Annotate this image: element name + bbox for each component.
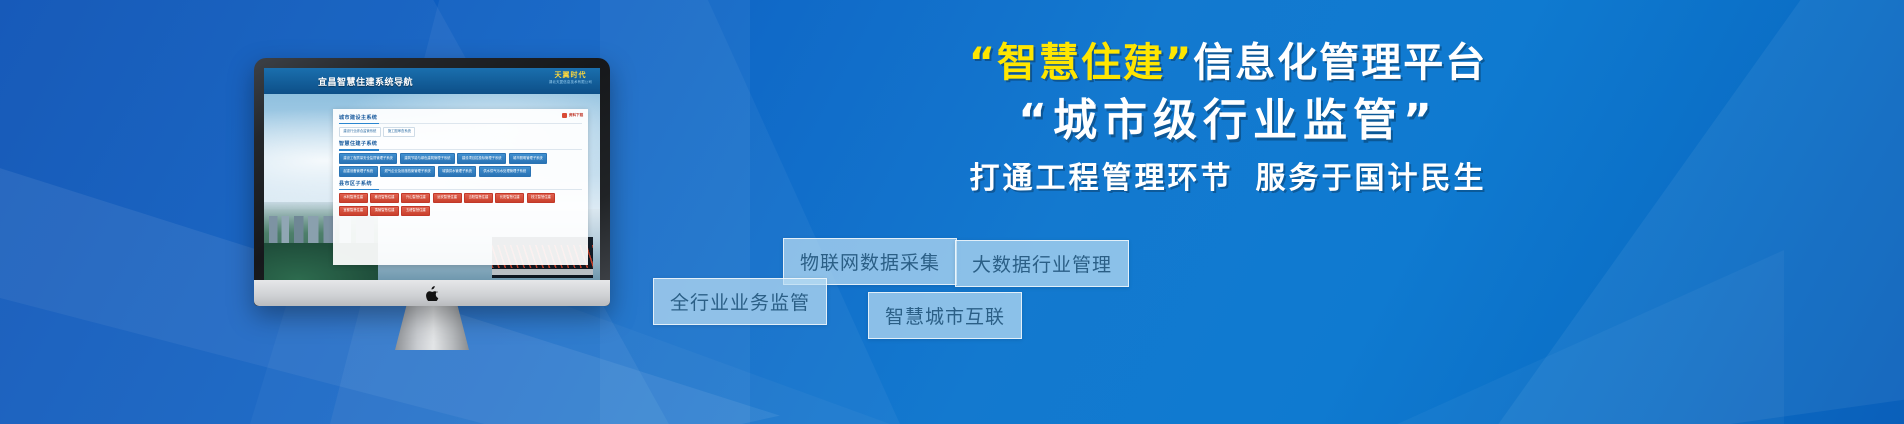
portal-button[interactable]: 水利智慧住建 [339,193,368,203]
portal-section-1-title: 城市建设主系统 [339,114,582,123]
portal-button[interactable]: 燃气企业及设施档案管理子系统 [380,166,435,176]
portal-button[interactable]: 城市照明管理子系统 [509,153,548,163]
download-badge[interactable]: 资料下载 [562,113,583,118]
portal-button[interactable]: 宜都智慧住建 [339,206,368,216]
monitor-bezel: 宜昌智慧住建系统导航 天翼时代 湖北天翼信息技术有限公司 [254,58,610,306]
portal-logo-sub: 湖北天翼信息技术有限公司 [549,81,592,84]
portal-body: 资料下载 城市建设主系统 建设行业综合监管系统 施工图审查系统 [264,94,600,280]
portal-section-2-rule [339,149,582,150]
portal-button[interactable]: 远安智慧住建 [433,193,462,203]
portal-button[interactable]: 枝江智慧住建 [527,193,556,203]
portal-logo-main: 天翼时代 [549,72,592,79]
portal-section-2-buttons: 建设工程质量安全监督管理子系统 建筑节能与绿色建筑管理子系统 建设项目招投标管理… [339,153,582,176]
feature-chip-supervision[interactable]: 全行业业务监管 [653,278,827,325]
headline-line-3-left: 打通工程管理环节 [970,161,1234,196]
portal-title: 宜昌智慧住建系统导航 [318,75,413,88]
portal-section-1: 城市建设主系统 建设行业综合监管系统 施工图审查系统 [339,114,582,137]
monitor-screen: 宜昌智慧住建系统导航 天翼时代 湖北天翼信息技术有限公司 [264,68,600,280]
portal-logo: 天翼时代 湖北天翼信息技术有限公司 [549,72,592,84]
headline-line-1-rest: 信息化管理平台 [1193,40,1487,86]
portal-button[interactable]: 施工图审查系统 [383,127,415,137]
portal-section-3-rule [339,189,582,190]
download-badge-label: 资料下载 [569,113,583,118]
portal-header: 宜昌智慧住建系统导航 天翼时代 湖北天翼信息技术有限公司 [264,68,600,94]
portal-button[interactable]: 兴山智慧住建 [401,193,430,203]
portal-button[interactable]: 建筑节能与绿色建筑管理子系统 [400,153,455,163]
portal-button[interactable]: 供水供气污水处理管理子系统 [479,166,531,176]
portal-section-3-buttons: 水利智慧住建 秭归智慧住建 兴山智慧住建 远安智慧住建 当阳智慧住建 长阳智慧住… [339,193,582,216]
monitor-stand [395,304,469,350]
monitor-chin [254,280,610,306]
portal-page: 宜昌智慧住建系统导航 天翼时代 湖北天翼信息技术有限公司 [264,68,600,280]
download-icon [562,113,567,118]
imac-mockup: 宜昌智慧住建系统导航 天翼时代 湖北天翼信息技术有限公司 [254,58,610,306]
headline-line-3: 打通工程管理环节服务于国计民生 [648,160,1808,198]
headline-line-3-right: 服务于国计民生 [1256,161,1487,196]
headline-line-1-highlight: “智慧住建” [969,40,1194,86]
portal-button[interactable]: 城镇供水管理子系统 [438,166,477,176]
portal-section-1-buttons: 建设行业综合监管系统 施工图审查系统 [339,127,582,137]
portal-button[interactable]: 五峰智慧住建 [401,206,430,216]
portal-button[interactable]: 起重设备管理子系统 [339,166,378,176]
portal-button[interactable]: 建设项目招投标管理子系统 [457,153,506,163]
portal-panel: 资料下载 城市建设主系统 建设行业综合监管系统 施工图审查系统 [333,109,588,265]
feature-chip-smartcity[interactable]: 智慧城市互联 [868,292,1022,339]
portal-button[interactable]: 当阳智慧住建 [464,193,493,203]
portal-button[interactable]: 建设行业综合监管系统 [339,127,381,137]
portal-section-3-title: 县市区子系统 [339,180,582,189]
headline-line-1: “智慧住建”信息化管理平台 [648,40,1808,87]
hero-banner: 宜昌智慧住建系统导航 天翼时代 湖北天翼信息技术有限公司 [0,0,1904,424]
portal-section-3: 县市区子系统 水利智慧住建 秭归智慧住建 兴山智慧住建 远安智慧住建 当阳智慧住… [339,180,582,216]
portal-section-2-title: 智慧住建子系统 [339,140,582,149]
feature-chip-bigdata[interactable]: 大数据行业管理 [955,240,1129,287]
portal-section-1-rule [339,123,582,124]
portal-button[interactable]: 夷陵智慧住建 [370,206,399,216]
headline-line-2: “城市级行业监管” [648,95,1808,148]
headline-block: “智慧住建”信息化管理平台 “城市级行业监管” 打通工程管理环节服务于国计民生 [648,40,1808,197]
portal-button[interactable]: 秭归智慧住建 [370,193,399,203]
portal-button[interactable]: 长阳智慧住建 [495,193,524,203]
portal-button[interactable]: 建设工程质量安全监督管理子系统 [339,153,397,163]
apple-icon [426,286,439,301]
portal-section-2: 智慧住建子系统 建设工程质量安全监督管理子系统 建筑节能与绿色建筑管理子系统 建… [339,140,582,176]
